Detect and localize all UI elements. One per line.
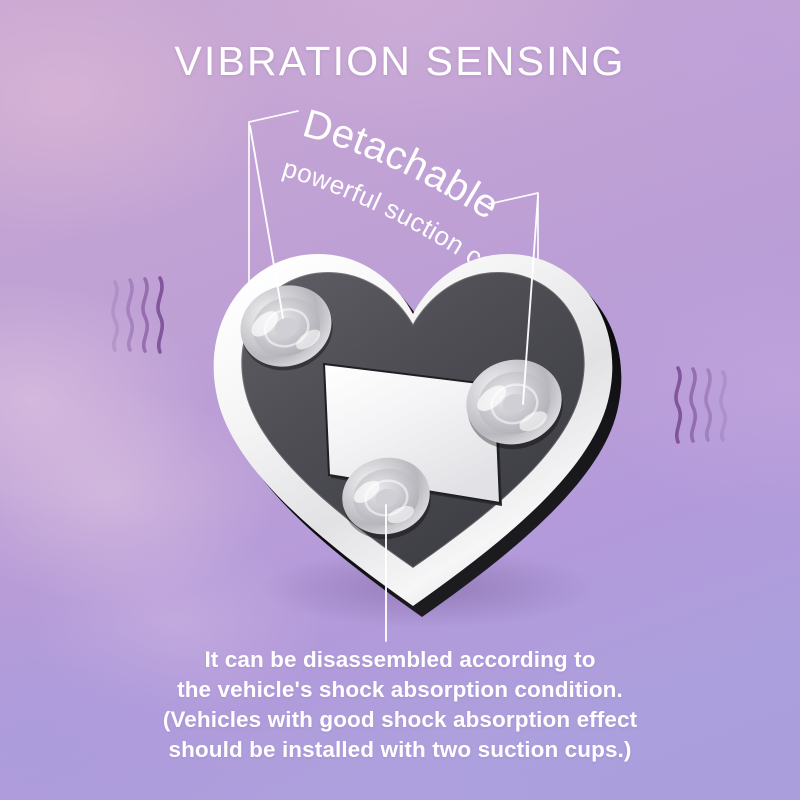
body-copy-line: the vehicle's shock absorption condition… bbox=[0, 675, 800, 705]
page-title: VIBRATION SENSING bbox=[0, 38, 800, 85]
product-image-heart-sensor bbox=[178, 196, 648, 626]
body-copy-line: (Vehicles with good shock absorption eff… bbox=[0, 705, 800, 735]
product-graphic-canvas: VIBRATION SENSING Detachable powerful su… bbox=[0, 0, 800, 800]
body-copy-line: should be installed with two suction cup… bbox=[0, 735, 800, 765]
body-copy-line: It can be disassembled according to bbox=[0, 645, 800, 675]
body-copy: It can be disassembled according to the … bbox=[0, 645, 800, 765]
